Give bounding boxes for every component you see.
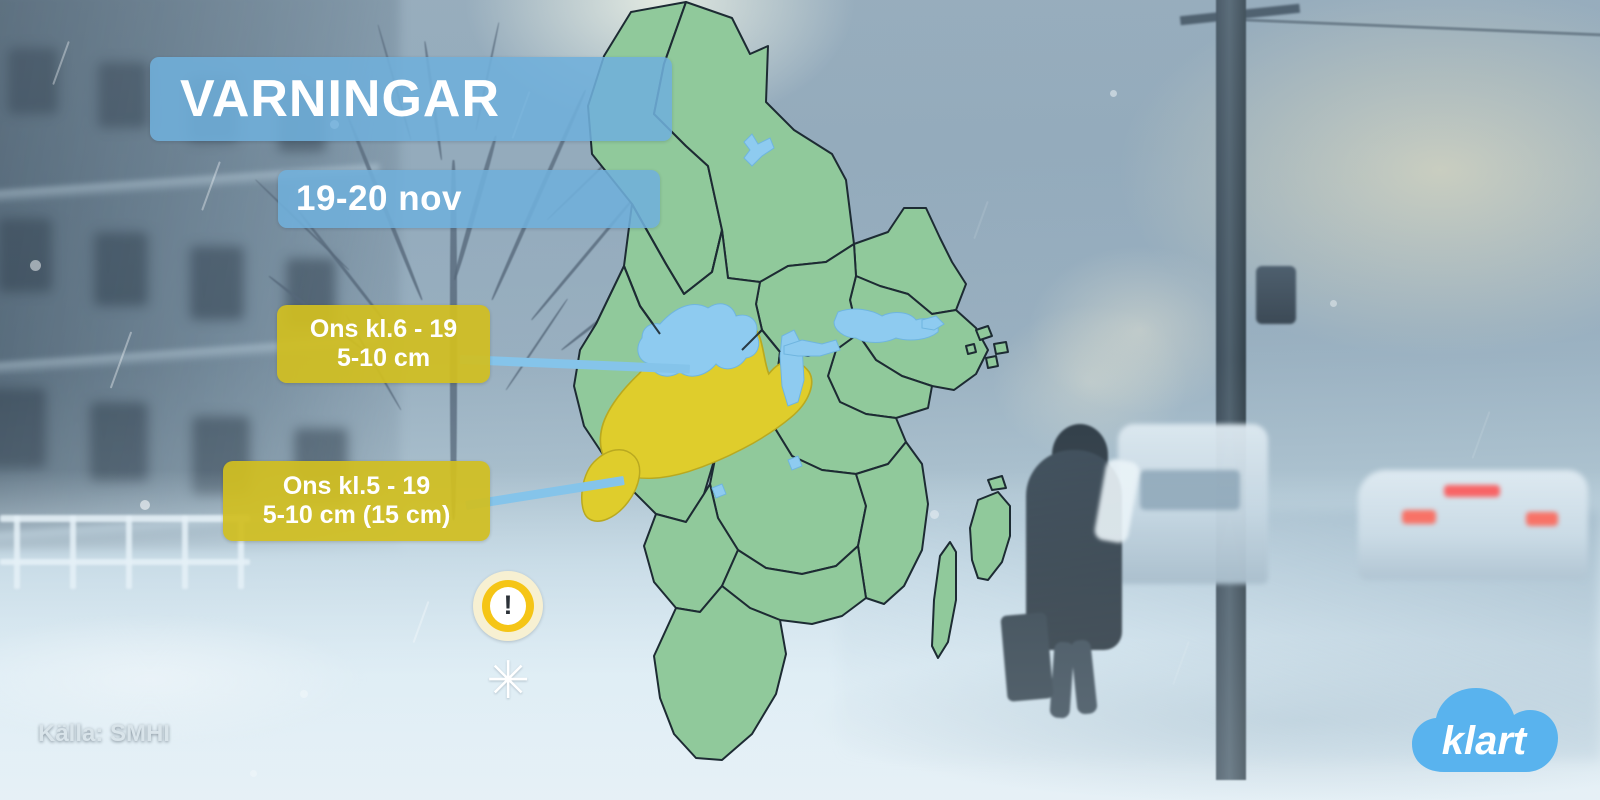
map-region-gotland <box>970 492 1010 580</box>
map-islet-4 <box>966 344 976 354</box>
map-region-faro <box>988 476 1006 490</box>
page-title: VARNINGAR <box>150 57 672 141</box>
source-attribution: Källa: SMHI <box>38 720 170 748</box>
snowflake-icon: ✳ <box>484 659 532 707</box>
warning-callout-upper[interactable]: Ons kl.6 - 19 5-10 cm <box>277 305 490 383</box>
warning-exclamation-icon: ! <box>473 571 543 641</box>
warning-callout-lower[interactable]: Ons kl.5 - 19 5-10 cm (15 cm) <box>223 461 490 541</box>
warning-icon-mark: ! <box>490 587 526 625</box>
weather-warning-graphic: VARNINGAR 19-20 nov Ons kl.6 - 19 5-10 c… <box>0 0 1600 800</box>
logo-text: klart <box>1442 719 1528 763</box>
callout-amount: 5-10 cm <box>337 344 430 374</box>
callout-time: Ons kl.6 - 19 <box>310 315 457 345</box>
map-region-oland <box>932 542 956 658</box>
map-islet-2 <box>994 342 1008 354</box>
callout-amount: 5-10 cm (15 cm) <box>263 501 451 531</box>
klart-logo[interactable]: klart <box>1398 686 1570 778</box>
warning-icon-ring: ! <box>482 580 534 632</box>
map-islet-3 <box>986 356 998 368</box>
date-range-banner: 19-20 nov <box>278 170 660 228</box>
callout-time: Ons kl.5 - 19 <box>283 472 430 502</box>
map-islet-1 <box>976 326 992 340</box>
